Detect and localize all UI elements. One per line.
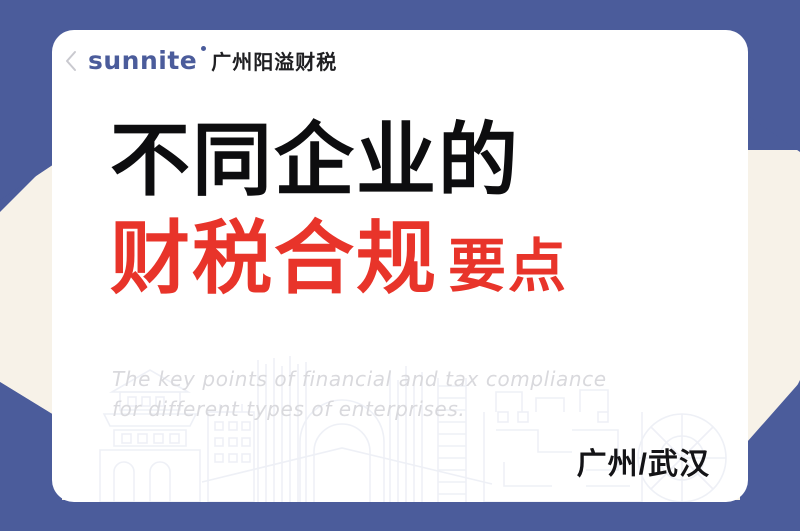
- brand-row: sunnite 广州阳溢财税: [82, 48, 337, 74]
- content-card: sunnite 广州阳溢财税 不同企业的 财税合规要点 The key poin…: [52, 30, 748, 502]
- registered-dot-icon: [201, 46, 206, 51]
- back-chevron-icon[interactable]: [60, 50, 82, 72]
- headline-line-1: 不同企业的: [110, 118, 730, 204]
- brand-name-cn: 广州阳溢财税: [211, 53, 337, 73]
- subtitle-block: The key points of financial and tax comp…: [112, 364, 712, 424]
- headline-block: 不同企业的 财税合规要点: [110, 118, 730, 303]
- headline-line-2-main: 财税合规: [110, 214, 438, 303]
- headline-line-2-accent: 要点: [448, 234, 568, 299]
- subtitle-line-2: for different types of enterprises.: [112, 394, 712, 424]
- poster-canvas: sunnite 广州阳溢财税 不同企业的 财税合规要点 The key poin…: [0, 0, 800, 531]
- sunnite-logo[interactable]: sunnite: [88, 48, 197, 74]
- headline-line-2: 财税合规要点: [110, 216, 730, 302]
- cities-label: 广州/武汉: [577, 450, 710, 480]
- sunnite-logo-text: sunnite: [88, 46, 197, 75]
- subtitle-line-1: The key points of financial and tax comp…: [112, 364, 712, 394]
- card-header: sunnite 广州阳溢财税: [52, 30, 748, 92]
